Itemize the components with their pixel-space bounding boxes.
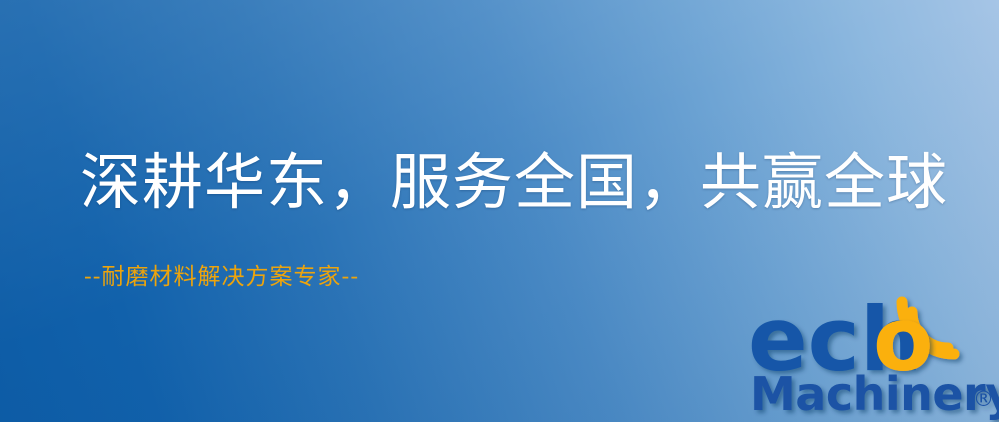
promo-banner: 深耕华东，服务全国，共赢全球 --耐磨材料解决方案专家-- ech o Mach… bbox=[0, 0, 999, 422]
banner-subtitle: --耐磨材料解决方案专家-- bbox=[84, 266, 359, 289]
echo-machinery-logo[interactable]: ech o Machinery ® bbox=[742, 292, 998, 422]
logo-text-machinery: Machinery bbox=[750, 367, 999, 421]
banner-headline: 深耕华东，服务全国，共赢全球 bbox=[80, 152, 948, 213]
logo-registered-mark: ® bbox=[973, 387, 994, 411]
